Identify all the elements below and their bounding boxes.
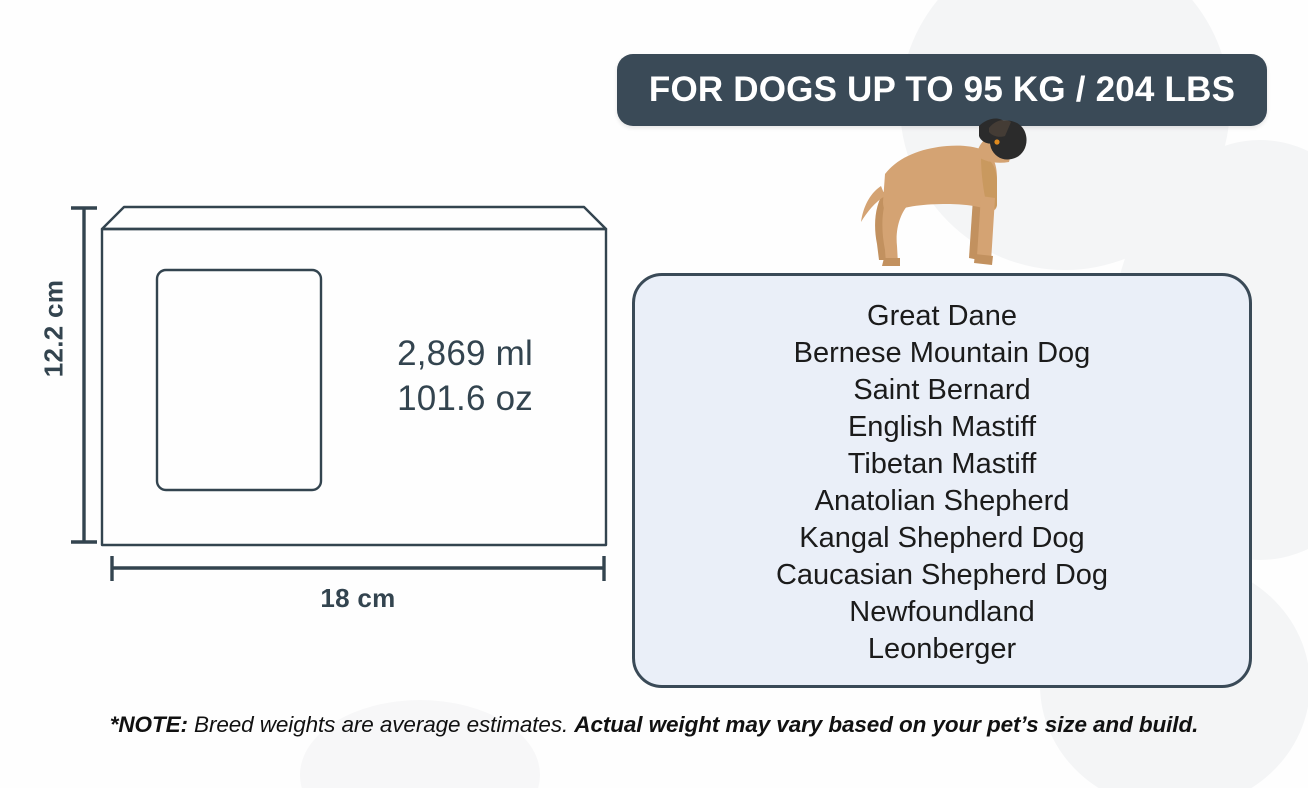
box-window-panel	[157, 270, 321, 490]
header-title: FOR DOGS UP TO 95 KG / 204 LBS	[649, 70, 1235, 110]
breed-item: Saint Bernard	[853, 372, 1030, 409]
product-box-diagram: 2,869 ml 101.6 oz 12.2 cm 18 cm	[0, 0, 630, 660]
footnote-label: *NOTE:	[110, 712, 188, 737]
great-dane-icon	[855, 112, 1030, 274]
breed-item: Tibetan Mastiff	[848, 446, 1037, 483]
volume-ounces: 101.6 oz	[340, 377, 590, 422]
breed-item: Newfoundland	[849, 594, 1034, 631]
box-volume-text: 2,869 ml 101.6 oz	[340, 332, 590, 422]
dog-body-group	[861, 119, 1027, 266]
box-top-face	[102, 207, 606, 229]
footnote-disclaimer: *NOTE: Breed weights are average estimat…	[0, 712, 1308, 738]
breed-item: Caucasian Shepherd Dog	[776, 557, 1108, 594]
footnote-italic-text: Breed weights are average estimates.	[188, 712, 574, 737]
breed-list-panel: Great Dane Bernese Mountain Dog Saint Be…	[632, 273, 1252, 688]
height-dimension-line	[71, 207, 97, 543]
breed-item: Bernese Mountain Dog	[794, 335, 1091, 372]
dog-eye	[994, 139, 999, 144]
breed-item: English Mastiff	[848, 409, 1036, 446]
breed-item: Great Dane	[867, 298, 1017, 335]
breed-item: Kangal Shepherd Dog	[799, 520, 1084, 557]
width-dimension-line	[111, 556, 605, 581]
box-width-label: 18 cm	[110, 583, 606, 614]
breed-item: Anatolian Shepherd	[815, 483, 1070, 520]
breed-item: Leonberger	[868, 631, 1016, 668]
volume-milliliters: 2,869 ml	[340, 332, 590, 377]
box-outline-svg	[0, 0, 630, 660]
footnote-bold-text: Actual weight may vary based on your pet…	[574, 712, 1198, 737]
infographic-root: 2,869 ml 101.6 oz 12.2 cm 18 cm FOR DOGS…	[0, 0, 1308, 788]
box-height-label: 12.2 cm	[39, 269, 70, 389]
